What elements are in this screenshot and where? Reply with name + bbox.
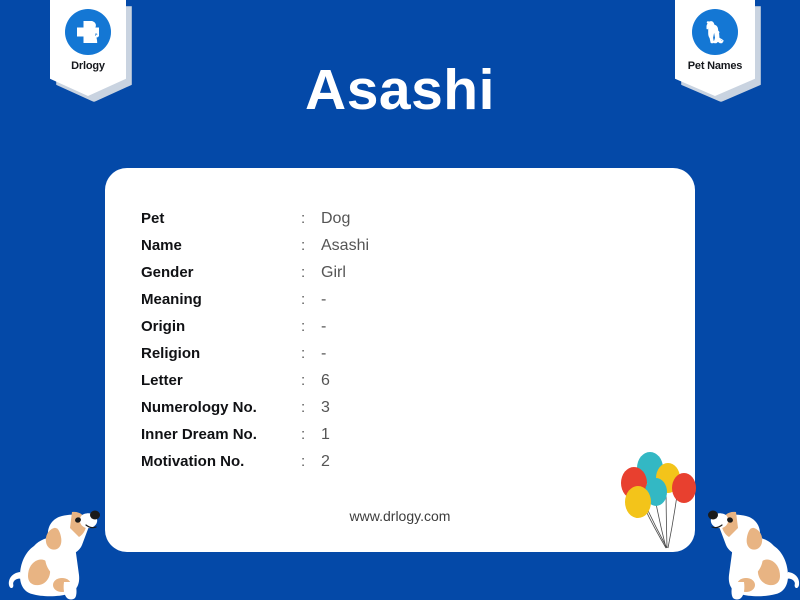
detail-value: 3 bbox=[321, 399, 330, 417]
table-row: Inner Dream No. : 1 bbox=[141, 426, 369, 453]
table-row: Origin : - bbox=[141, 318, 369, 345]
detail-label: Inner Dream No. bbox=[141, 426, 301, 443]
table-row: Pet : Dog bbox=[141, 210, 369, 237]
detail-label: Origin bbox=[141, 318, 301, 335]
detail-value: Asashi bbox=[321, 237, 369, 255]
table-row: Gender : Girl bbox=[141, 264, 369, 291]
detail-separator: : bbox=[301, 372, 321, 389]
detail-value: Girl bbox=[321, 264, 346, 282]
detail-value: - bbox=[321, 345, 326, 363]
table-row: Meaning : - bbox=[141, 291, 369, 318]
page-title: Asashi bbox=[0, 62, 800, 119]
detail-value: - bbox=[321, 291, 326, 309]
detail-value: 6 bbox=[321, 372, 330, 390]
detail-value: 1 bbox=[321, 426, 330, 444]
detail-label: Numerology No. bbox=[141, 399, 301, 416]
table-row: Motivation No. : 2 bbox=[141, 453, 369, 480]
detail-label: Gender bbox=[141, 264, 301, 281]
detail-label: Pet bbox=[141, 210, 301, 227]
detail-label: Letter bbox=[141, 372, 301, 389]
dog-and-cat-icon bbox=[692, 9, 738, 55]
detail-label: Religion bbox=[141, 345, 301, 362]
balloons-icon bbox=[612, 448, 704, 553]
detail-separator: : bbox=[301, 264, 321, 281]
table-row: Religion : - bbox=[141, 345, 369, 372]
detail-label: Motivation No. bbox=[141, 453, 301, 470]
details-table: Pet : Dog Name : Asashi Gender : Girl Me… bbox=[141, 210, 369, 480]
doctor-stethoscope-cross-icon: P bbox=[65, 9, 111, 55]
detail-separator: : bbox=[301, 210, 321, 227]
detail-value: 2 bbox=[321, 453, 330, 471]
detail-value: - bbox=[321, 318, 326, 336]
detail-separator: : bbox=[301, 426, 321, 443]
pet-name-info-card: Pet : Dog Name : Asashi Gender : Girl Me… bbox=[105, 168, 695, 552]
detail-separator: : bbox=[301, 318, 321, 335]
detail-label: Name bbox=[141, 237, 301, 254]
detail-separator: : bbox=[301, 453, 321, 470]
website-url: www.drlogy.com bbox=[105, 508, 695, 524]
table-row: Numerology No. : 3 bbox=[141, 399, 369, 426]
detail-value: Dog bbox=[321, 210, 350, 228]
detail-separator: : bbox=[301, 399, 321, 416]
detail-separator: : bbox=[301, 291, 321, 308]
table-row: Letter : 6 bbox=[141, 372, 369, 399]
detail-label: Meaning bbox=[141, 291, 301, 308]
sitting-dog-icon bbox=[6, 498, 110, 600]
poster-canvas: P Drlogy Pet Names bbox=[0, 0, 800, 600]
sitting-dog-icon bbox=[698, 498, 800, 600]
detail-separator: : bbox=[301, 345, 321, 362]
detail-separator: : bbox=[301, 237, 321, 254]
table-row: Name : Asashi bbox=[141, 237, 369, 264]
